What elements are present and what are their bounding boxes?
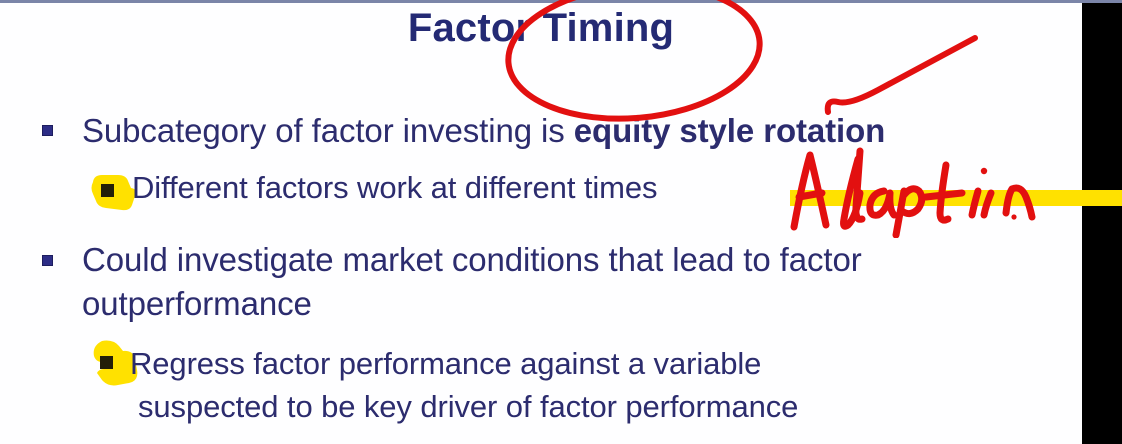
- bullet-text-3-line-2: outperformance: [82, 282, 982, 326]
- handwritten-note-adaption: [786, 143, 1086, 238]
- bullet-text-1-normal: Subcategory of factor investing is: [82, 112, 574, 149]
- bullet-text-4-line-2: suspected to be key driver of factor per…: [130, 385, 970, 428]
- bullet-text-3: Could investigate market conditions that…: [82, 238, 982, 326]
- bullet-text-4: Regress factor performance against a var…: [130, 342, 970, 428]
- bullet-marker-1: [42, 125, 53, 136]
- bullet-text-3-line-1: Could investigate market conditions that…: [82, 238, 982, 282]
- right-black-bar: [1082, 3, 1122, 444]
- slide-title: Factor Timing: [0, 6, 1082, 51]
- highlighter-stripe-over-black-bar: [1082, 190, 1122, 206]
- bullet-marker-3: [42, 255, 53, 266]
- bullet-text-2: Different factors work at different time…: [132, 166, 772, 209]
- bullet-marker-4: [100, 356, 113, 369]
- bullet-text-4-line-1: Regress factor performance against a var…: [130, 342, 970, 385]
- slide-canvas: Factor Timing Subcategory of factor inve…: [0, 0, 1122, 444]
- bullet-marker-2: [101, 184, 114, 197]
- top-edge-rule: [0, 0, 1122, 3]
